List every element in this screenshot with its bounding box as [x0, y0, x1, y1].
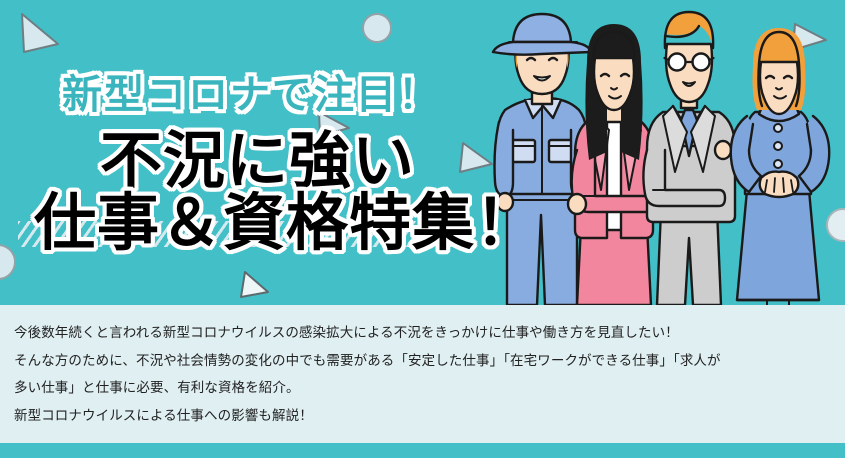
circle-left-edge-icon: [0, 245, 15, 279]
description-line-4: 新型コロナウイルスによる仕事への影響も解説！: [14, 404, 829, 429]
circle-top-center-icon: [363, 14, 391, 42]
footer-accent-strip: [0, 443, 845, 458]
description-line-2: そんな方のために、不況や社会情勢の変化の中でも需要がある「安定した仕事」「在宅ワ…: [14, 349, 829, 374]
triangle-top-left-icon: [22, 14, 58, 52]
campaign-banner: 新型コロナで注目！ 不況に強い 仕事＆資格特集！ 今後数年続くと言われる新型コロ…: [0, 0, 845, 458]
people-illustration: [485, 0, 845, 305]
hero-section: 新型コロナで注目！ 不況に強い 仕事＆資格特集！: [0, 0, 845, 305]
headline-line-2: 仕事＆資格特集！: [34, 172, 538, 262]
triangle-bottom-center-icon: [241, 272, 268, 297]
figure-woman-blue-dress: [731, 28, 829, 305]
description-line-1: 今後数年続くと言われる新型コロナウイルスの感染拡大による不況をきっかけに仕事や働…: [14, 321, 829, 346]
description-line-3: 多い仕事」と仕事に必要、有利な資格を紹介。: [14, 376, 829, 401]
description-block: 今後数年続くと言われる新型コロナウイルスの感染拡大による不況をきっかけに仕事や働…: [0, 305, 845, 443]
figure-man-gray-suit: [643, 12, 735, 305]
